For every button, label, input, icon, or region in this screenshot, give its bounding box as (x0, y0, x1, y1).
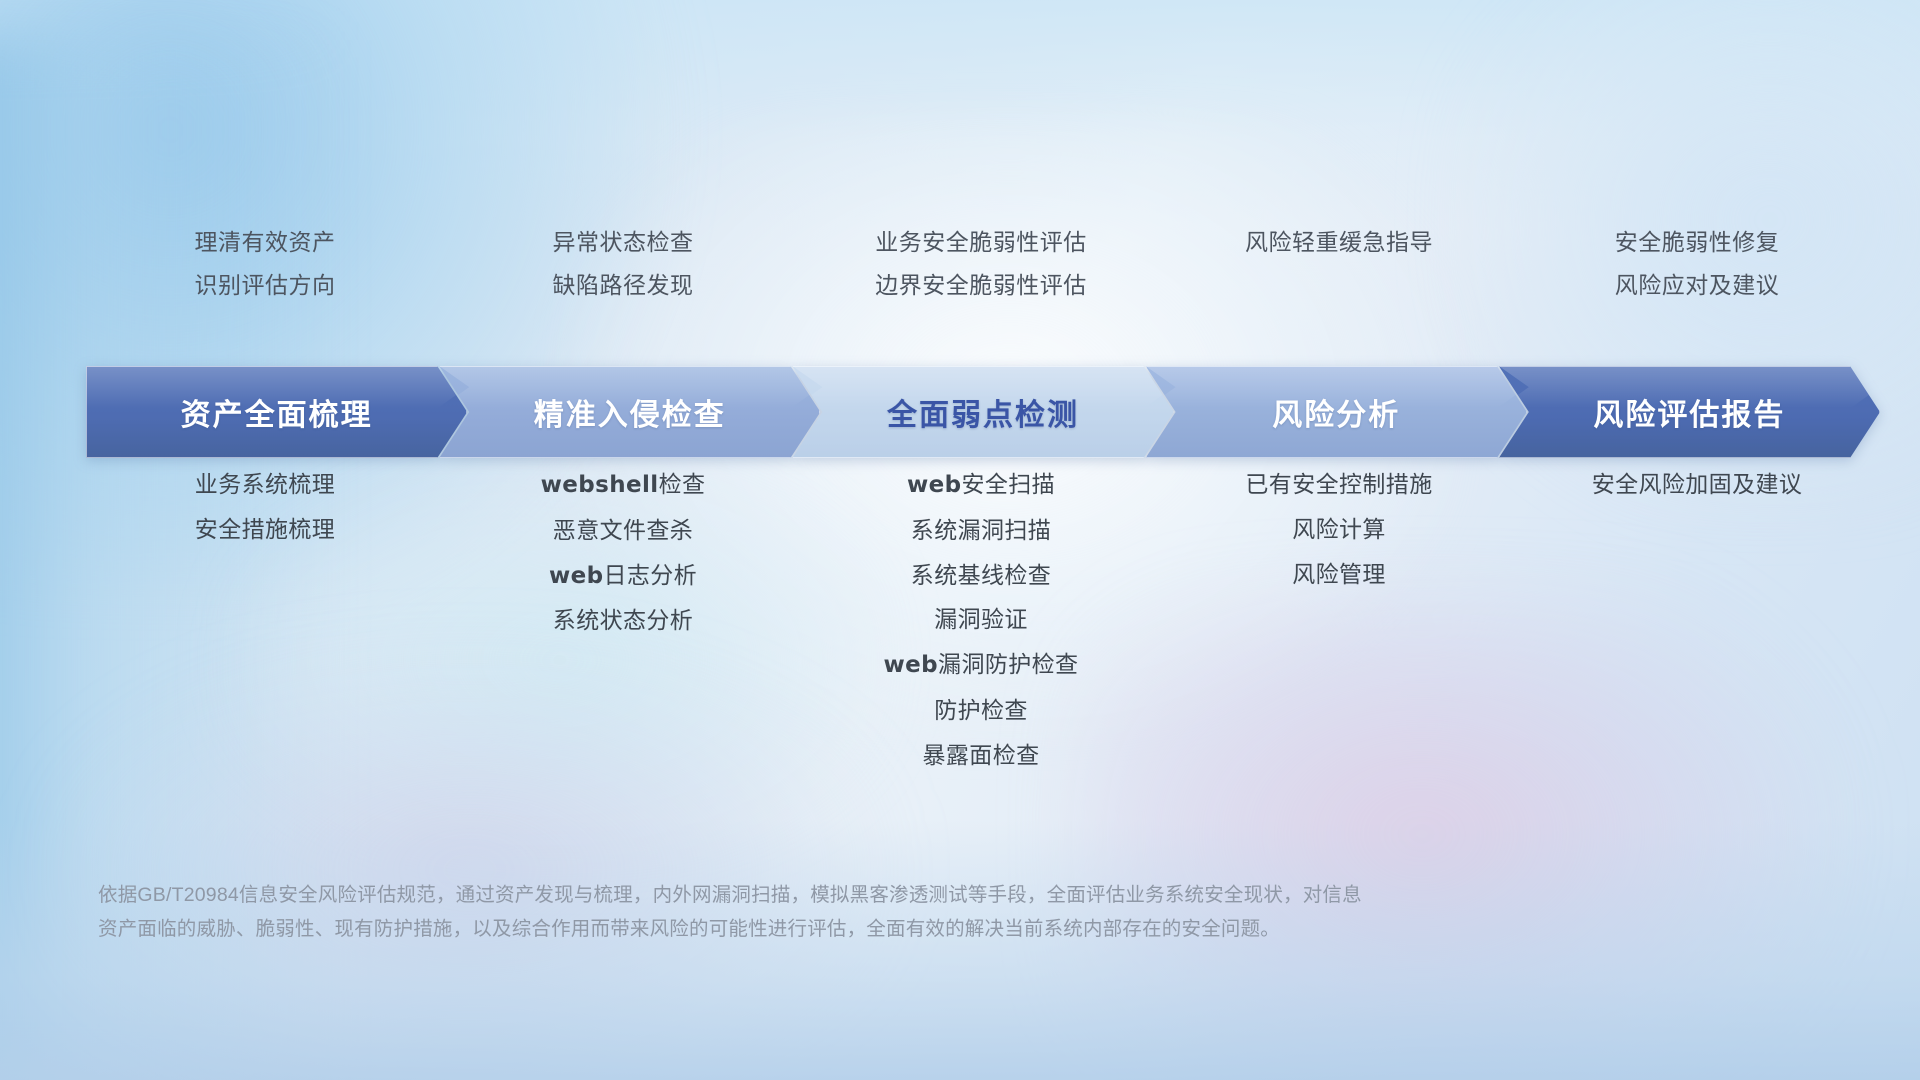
detail-item: webshell检查 (541, 470, 706, 500)
detail-item-cn: 日志分析 (603, 562, 697, 588)
process-diagram: 理清有效资产识别评估方向异常状态检查缺陷路径发现业务安全脆弱性评估边界安全脆弱性… (0, 0, 1920, 1080)
detail-item: 恶意文件查杀 (553, 516, 693, 545)
stage-top-labels-5: 安全脆弱性修复风险应对及建议 (1518, 228, 1876, 300)
stage-bottom-list-4: 已有安全控制措施风险计算风险管理 (1160, 470, 1518, 769)
top-label: 边界安全脆弱性评估 (875, 271, 1087, 300)
stage-title-2: 精准入侵检查 (534, 390, 726, 434)
stage-bottom-list-5: 安全风险加固及建议 (1518, 470, 1876, 769)
detail-item-en: web (884, 652, 939, 678)
stage-top-labels-3: 业务安全脆弱性评估边界安全脆弱性评估 (802, 228, 1160, 300)
detail-item-en: webshell (541, 472, 659, 498)
detail-item-cn: 漏洞防护检查 (938, 651, 1078, 677)
top-label: 缺陷路径发现 (553, 271, 694, 300)
top-label: 理清有效资产 (195, 228, 336, 257)
stage-chevron-banner: 资产全面梳理精准入侵检查全面弱点检测风险分析风险评估报告 (86, 366, 1880, 458)
top-label: 风险应对及建议 (1615, 271, 1780, 300)
stage-chevron-1[interactable]: 资产全面梳理 (86, 366, 467, 458)
stage-title-5: 风险评估报告 (1593, 390, 1785, 434)
detail-item: 安全风险加固及建议 (1592, 470, 1803, 499)
stage-chevron-3[interactable]: 全面弱点检测 (792, 366, 1173, 458)
detail-item-cn: 检查 (659, 471, 706, 497)
bottom-detail-row: 业务系统梳理安全措施梳理webshell检查恶意文件查杀web日志分析系统状态分… (86, 470, 1876, 769)
top-label: 业务安全脆弱性评估 (875, 228, 1087, 257)
detail-item: 业务系统梳理 (195, 470, 335, 499)
detail-item: web日志分析 (549, 561, 697, 591)
top-label: 风险轻重缓急指导 (1245, 228, 1433, 257)
top-label: 异常状态检查 (553, 228, 694, 257)
detail-item: 系统基线检查 (911, 561, 1051, 590)
detail-item: 暴露面检查 (923, 741, 1040, 770)
stage-chevron-5[interactable]: 风险评估报告 (1499, 366, 1880, 458)
detail-item: 已有安全控制措施 (1245, 470, 1432, 499)
footer-description: 依据GB/T20984信息安全风险评估规范，通过资产发现与梳理，内外网漏洞扫描，… (98, 878, 1618, 946)
detail-item: 安全措施梳理 (195, 515, 335, 544)
detail-item: 系统漏洞扫描 (911, 516, 1051, 545)
stage-chevron-2[interactable]: 精准入侵检查 (439, 366, 820, 458)
stage-bottom-list-2: webshell检查恶意文件查杀web日志分析系统状态分析 (444, 470, 802, 769)
detail-item: 风险计算 (1292, 515, 1386, 544)
footer-line-2: 资产面临的威胁、脆弱性、现有防护措施，以及综合作用而带来风险的可能性进行评估，全… (98, 912, 1618, 946)
detail-item: web安全扫描 (907, 470, 1055, 500)
top-label: 安全脆弱性修复 (1615, 228, 1780, 257)
detail-item-cn: 安全扫描 (961, 471, 1055, 497)
stage-top-labels-1: 理清有效资产识别评估方向 (86, 228, 444, 300)
stage-bottom-list-3: web安全扫描系统漏洞扫描系统基线检查漏洞验证web漏洞防护检查防护检查暴露面检… (802, 470, 1160, 769)
top-label: 识别评估方向 (195, 271, 336, 300)
detail-item: 防护检查 (934, 696, 1028, 725)
detail-item-en: web (907, 472, 962, 498)
detail-item: 漏洞验证 (934, 605, 1028, 634)
top-label-row: 理清有效资产识别评估方向异常状态检查缺陷路径发现业务安全脆弱性评估边界安全脆弱性… (86, 228, 1876, 300)
stage-title-3: 全面弱点检测 (887, 390, 1079, 434)
stage-bottom-list-1: 业务系统梳理安全措施梳理 (86, 470, 444, 769)
detail-item: 系统状态分析 (553, 606, 693, 635)
stage-title-4: 风险分析 (1272, 390, 1400, 434)
stage-title-1: 资产全面梳理 (181, 390, 373, 434)
footer-line-1: 依据GB/T20984信息安全风险评估规范，通过资产发现与梳理，内外网漏洞扫描，… (98, 878, 1618, 912)
stage-top-labels-2: 异常状态检查缺陷路径发现 (444, 228, 802, 300)
stage-top-labels-4: 风险轻重缓急指导 (1160, 228, 1518, 300)
stage-chevron-4[interactable]: 风险分析 (1146, 366, 1527, 458)
detail-item: 风险管理 (1292, 560, 1386, 589)
detail-item-en: web (549, 563, 604, 589)
detail-item: web漏洞防护检查 (884, 650, 1079, 680)
